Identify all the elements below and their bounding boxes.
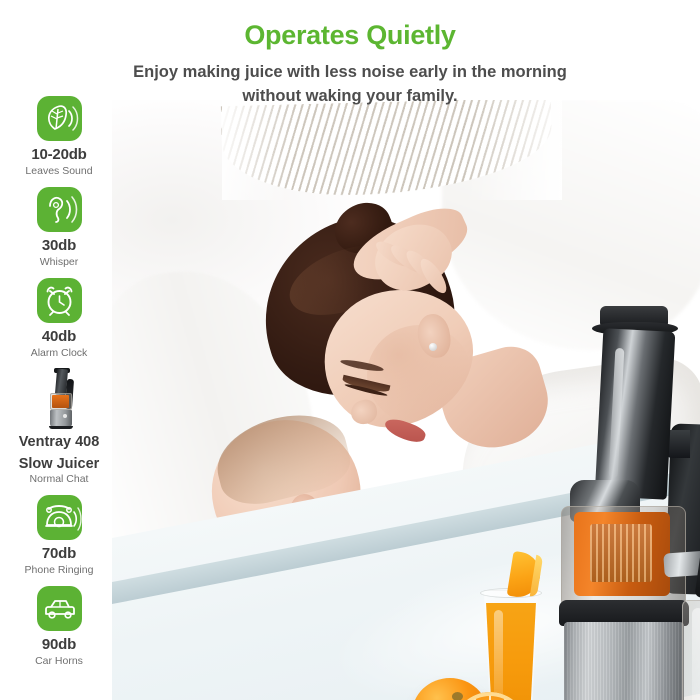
noise-item-whisper[interactable]: 30db Whisper [0,187,118,268]
product-name-line1: Ventray 408 [0,434,118,450]
lifestyle-photo: VENTRAY [112,100,700,700]
juicer-feed-chute [595,328,676,500]
juicer-juice-spout [663,550,700,577]
car-horn-icon [37,586,82,631]
noise-item-car-horns[interactable]: 90db Car Horns [0,586,118,667]
noise-item-ventray-slow-juicer[interactable]: Ventray 408 Slow Juicer Normal Chat [0,369,118,485]
pitcher-highlight [692,608,700,700]
pillow-highlight [222,100,562,200]
slow-juicer-photo [37,369,82,429]
mother-earring [429,343,437,351]
noise-caption: Whisper [0,256,118,269]
noise-value: 30db [0,238,118,255]
noise-caption: Normal Chat [0,473,118,486]
page-subtitle: Enjoy making juice with less noise early… [115,61,585,109]
noise-caption: Phone Ringing [0,564,118,577]
noise-item-phone-ringing[interactable]: 70db Phone Ringing [0,495,118,576]
noise-caption: Car Horns [0,655,118,668]
noise-item-leaves-sound[interactable]: 10-20db Leaves Sound [0,96,118,177]
glass-juice [485,603,537,700]
page-title: Operates Quietly [0,20,700,51]
noise-caption: Leaves Sound [0,165,118,178]
juicer-brushed-texture [564,622,684,700]
product-name-line2: Slow Juicer [0,456,118,472]
noise-level-scale: 10-20db Leaves Sound 30db Whisper [0,96,118,678]
noise-item-alarm-clock[interactable]: 40db Alarm Clock [0,278,118,359]
noise-value: 10-20db [0,147,118,164]
orange-stem [452,692,463,700]
noise-value: 70db [0,546,118,563]
leaf-sound-icon [37,96,82,141]
noise-value: 90db [0,637,118,654]
juicer-strainer-mesh [590,524,652,582]
rotary-phone-ringing-icon [37,495,82,540]
noise-caption: Alarm Clock [0,347,118,360]
alarm-clock-icon [37,278,82,323]
glass-juice-highlight [494,610,503,700]
ear-sound-icon [37,187,82,232]
noise-value: 40db [0,329,118,346]
